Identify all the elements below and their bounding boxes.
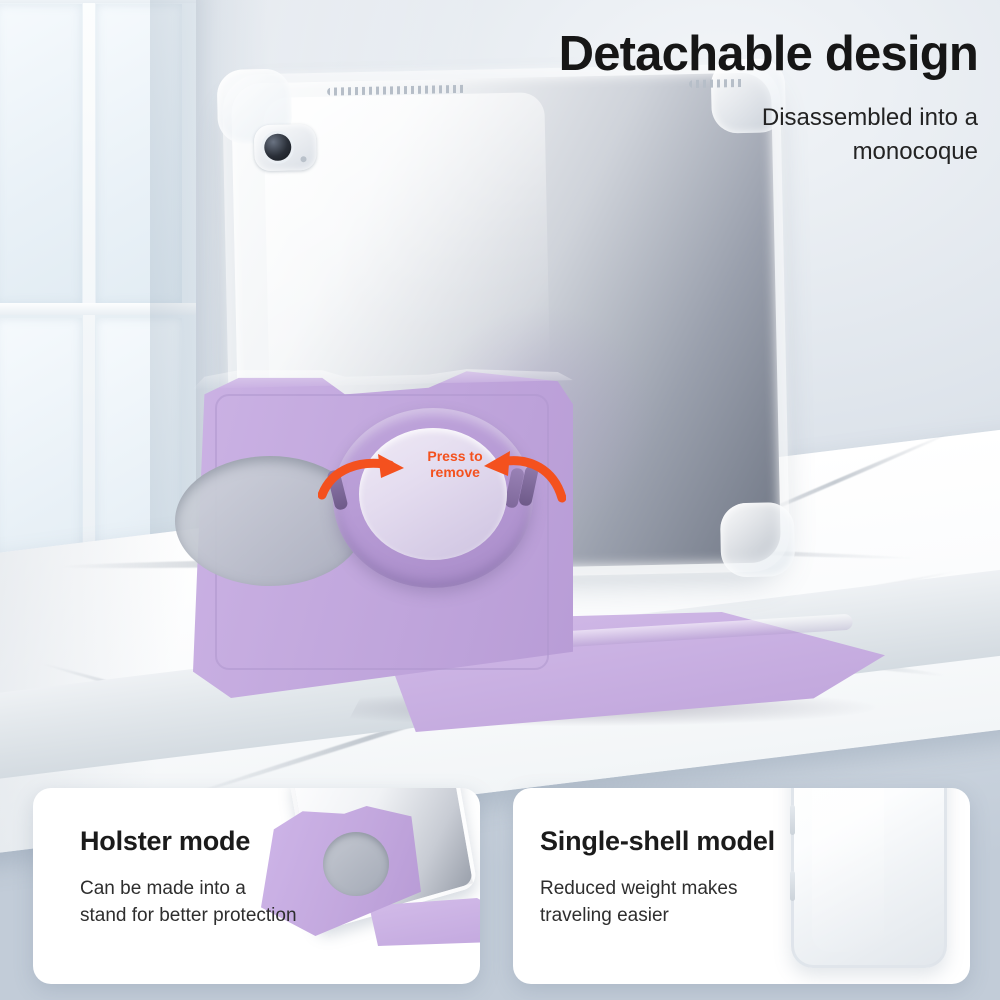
shell-glossy-highlight [812, 788, 884, 952]
card-heading: Single-shell model [540, 826, 775, 857]
card-body-line1: Can be made into a [80, 876, 246, 902]
card-body-line2: stand for better protection [80, 903, 297, 929]
page-title: Detachable design [0, 26, 978, 82]
purple-rotating-stand [165, 360, 865, 730]
holster-mode-illustration [261, 788, 480, 958]
press-to-remove-line1: Press to [400, 448, 510, 464]
press-to-remove-line2: remove [400, 464, 510, 480]
page-subtitle-line2: monocoque [0, 138, 978, 166]
card-body-line2: traveling easier [540, 903, 669, 929]
feature-card-holster-mode[interactable]: Holster mode Can be made into a stand fo… [33, 788, 480, 984]
shell-side-button-cutout [790, 871, 795, 901]
product-feature-image: Press to remove Detachable design Disass… [0, 0, 1000, 1000]
curved-arrow-right-icon [318, 443, 408, 507]
press-to-remove-callout: Press to remove [400, 448, 510, 480]
card-body-line1: Reduced weight makes [540, 876, 738, 902]
single-shell-illustration [791, 788, 947, 968]
shell-side-button-cutout [790, 805, 795, 835]
feature-card-single-shell-model[interactable]: Single-shell model Reduced weight makes … [513, 788, 970, 984]
page-subtitle-line1: Disassembled into a [0, 104, 978, 132]
card-heading: Holster mode [80, 826, 250, 857]
mini-disc-cutout [323, 832, 389, 896]
